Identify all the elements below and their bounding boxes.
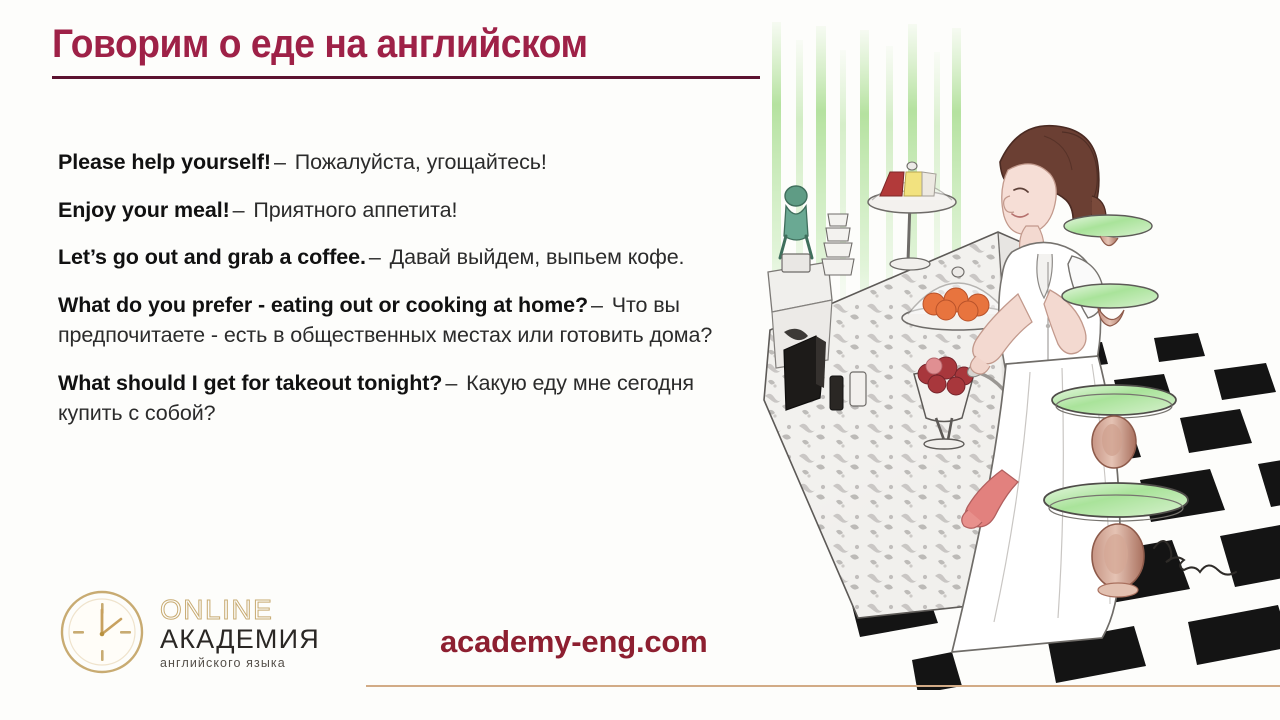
- phrase-item: What do you prefer - eating out or cooki…: [58, 290, 758, 351]
- clock-icon: [58, 588, 146, 676]
- phrase-item: What should I get for takeout tonight?– …: [58, 368, 758, 429]
- logo-online-text: ONLINE: [160, 596, 320, 625]
- logo-academy-text: АКАДЕМИЯ: [160, 625, 320, 653]
- slide-root: Говорим о еде на английском Please help …: [0, 0, 1280, 720]
- logo-subtitle-text: английского языка: [160, 657, 320, 671]
- phrase-russian: Давай выйдем, выпьем кофе.: [390, 245, 685, 269]
- footer-divider: [366, 685, 1280, 687]
- phrase-list: Please help yourself!– Пожалуйста, угоща…: [58, 147, 758, 429]
- phrase-dash: –: [271, 150, 289, 174]
- phrase-english: What do you prefer - eating out or cooki…: [58, 293, 588, 317]
- title-underline: [52, 76, 760, 79]
- logo-wordmark: ONLINE АКАДЕМИЯ английского языка: [160, 594, 320, 671]
- phrase-english: Please help yourself!: [58, 150, 271, 174]
- website-url[interactable]: academy-eng.com: [440, 624, 708, 660]
- phrase-dash: –: [442, 371, 460, 395]
- title-block: Говорим о еде на английском: [52, 22, 764, 79]
- plate-stand-far: [1064, 215, 1152, 246]
- woman-at-dessert-counter-illustration: [762, 0, 1280, 690]
- phrase-item: Please help yourself!– Пожалуйста, угоща…: [58, 147, 758, 178]
- phrase-russian: Приятного аппетита!: [253, 198, 457, 222]
- phrase-english: Let’s go out and grab a coffee.: [58, 245, 366, 269]
- brand-logo: ONLINE АКАДЕМИЯ английского языка: [58, 588, 320, 676]
- phrase-item: Let’s go out and grab a coffee.– Давай в…: [58, 242, 758, 273]
- phrase-dash: –: [588, 293, 606, 317]
- phrase-dash: –: [230, 198, 248, 222]
- green-figurine: [780, 186, 812, 272]
- page-title: Говорим о еде на английском: [52, 22, 714, 67]
- phrase-dash: –: [366, 245, 384, 269]
- phrase-english: What should I get for takeout tonight?: [58, 371, 442, 395]
- phrase-english: Enjoy your meal!: [58, 198, 230, 222]
- stacked-cups: [822, 214, 854, 275]
- phrase-russian: Пожалуйста, угощайтесь!: [295, 150, 547, 174]
- phrase-item: Enjoy your meal!– Приятного аппетита!: [58, 195, 758, 226]
